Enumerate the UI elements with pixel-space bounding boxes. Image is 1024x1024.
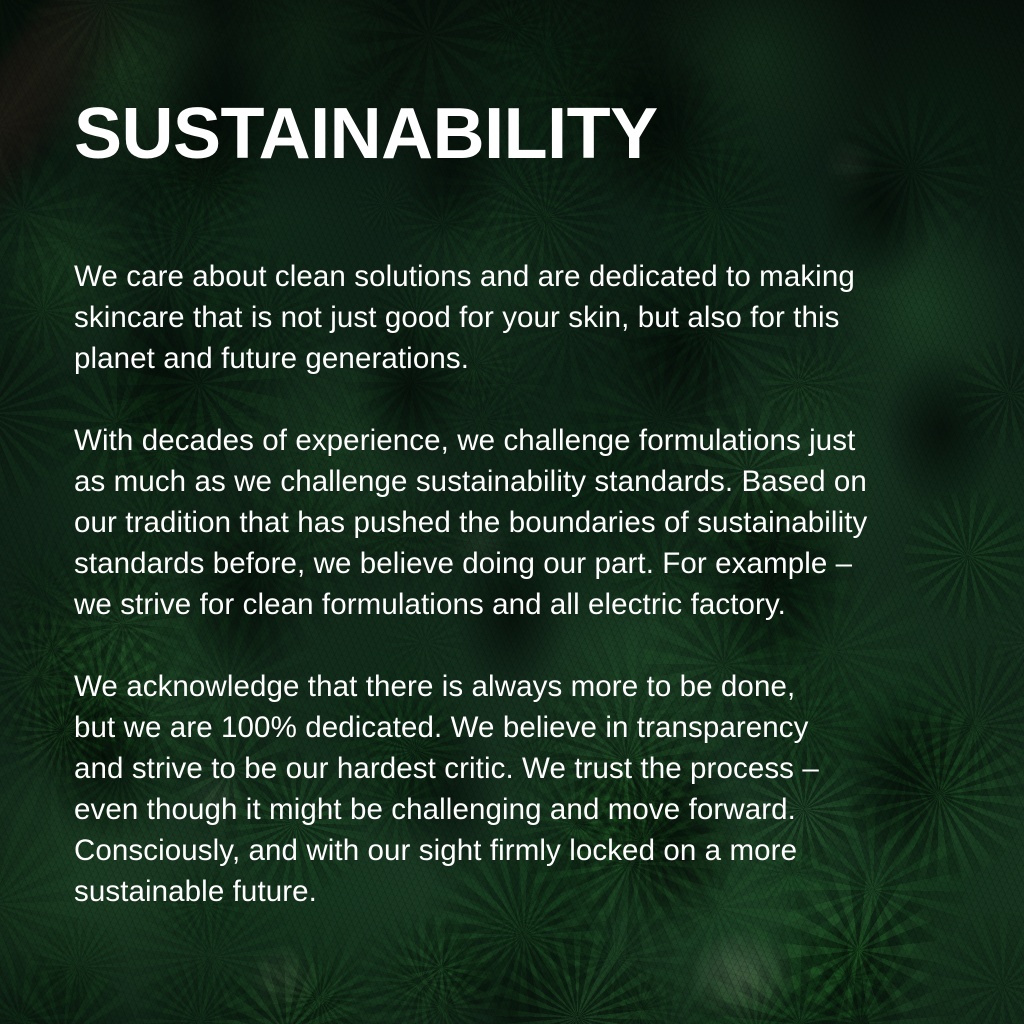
conifer-crown <box>0 962 141 1024</box>
conifer-crown <box>588 956 694 1024</box>
conifer-crown <box>371 897 512 1024</box>
conifer-crown <box>0 262 65 397</box>
conifer-crown <box>670 950 842 1024</box>
conifer-crown <box>632 0 732 68</box>
body-copy: We care about clean solutions and are de… <box>74 256 974 912</box>
conifer-crown <box>0 137 36 215</box>
conifer-crown <box>18 906 139 1024</box>
conifer-crown <box>459 0 563 77</box>
conifer-crown <box>0 812 83 996</box>
paragraph-intro: We care about clean solutions and are de… <box>74 256 974 379</box>
conifer-crown <box>973 581 1024 702</box>
text-content-column: SUSTAINABILITY We care about clean solut… <box>74 96 974 912</box>
sustainability-hero-banner: SUSTAINABILITY We care about clean solut… <box>0 0 1024 1024</box>
paragraph-experience: With decades of experience, we challenge… <box>74 420 974 625</box>
conifer-crown <box>221 915 422 1024</box>
conifer-crown <box>698 922 902 1024</box>
conifer-crown <box>252 930 388 1024</box>
conifer-crown <box>0 924 116 1024</box>
conifer-crown <box>591 959 745 1024</box>
paragraph-commitment: We acknowledge that there is always more… <box>74 666 974 912</box>
conifer-crown <box>0 38 86 217</box>
conifer-crown <box>339 0 419 50</box>
conifer-crown <box>475 915 681 1024</box>
conifer-crown <box>458 0 641 84</box>
conifer-crown <box>342 906 545 1024</box>
conifer-crown <box>124 944 277 1024</box>
conifer-crown <box>776 905 919 1024</box>
conifer-crown <box>176 0 333 69</box>
conifer-crown <box>0 0 89 80</box>
page-title: SUSTAINABILITY <box>74 96 974 172</box>
conifer-crown <box>179 926 394 1024</box>
